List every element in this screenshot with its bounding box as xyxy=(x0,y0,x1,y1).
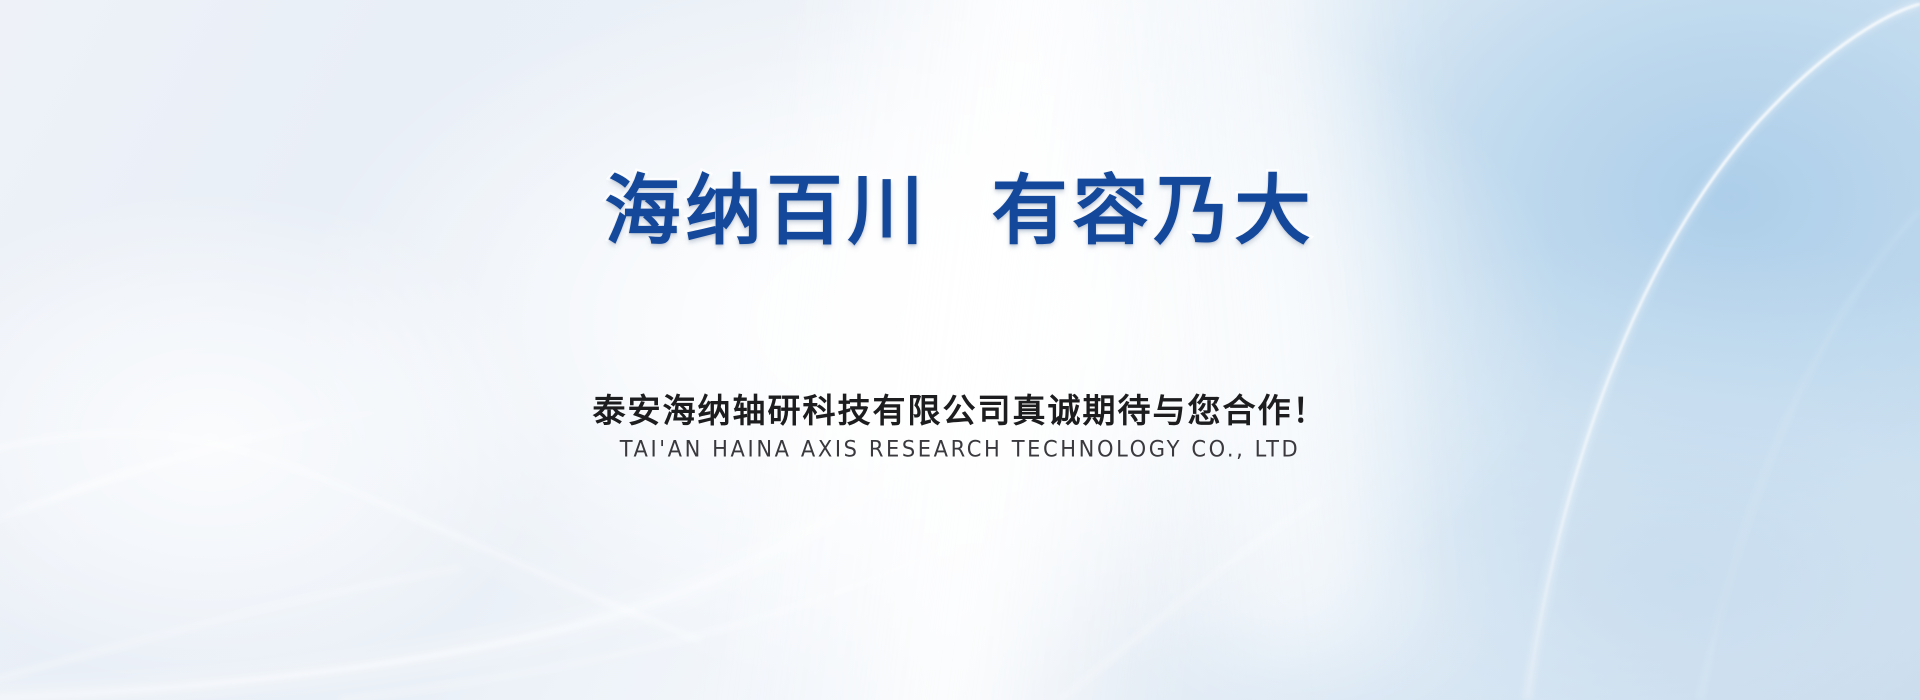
subtitle-chinese: 泰安海纳轴研科技有限公司真诚期待与您合作！ xyxy=(0,384,1920,432)
hero-banner: 海纳百川 有容乃大 泰安海纳轴研科技有限公司真诚期待与您合作！ TAI'AN H… xyxy=(0,0,1920,700)
page-title: 海纳百川 有容乃大 xyxy=(0,166,1920,256)
banner-content: 海纳百川 有容乃大 泰安海纳轴研科技有限公司真诚期待与您合作！ TAI'AN H… xyxy=(0,0,1920,700)
subtitle-english: TAI'AN HAINA AXIS RESEARCH TECHNOLOGY CO… xyxy=(0,437,1920,462)
